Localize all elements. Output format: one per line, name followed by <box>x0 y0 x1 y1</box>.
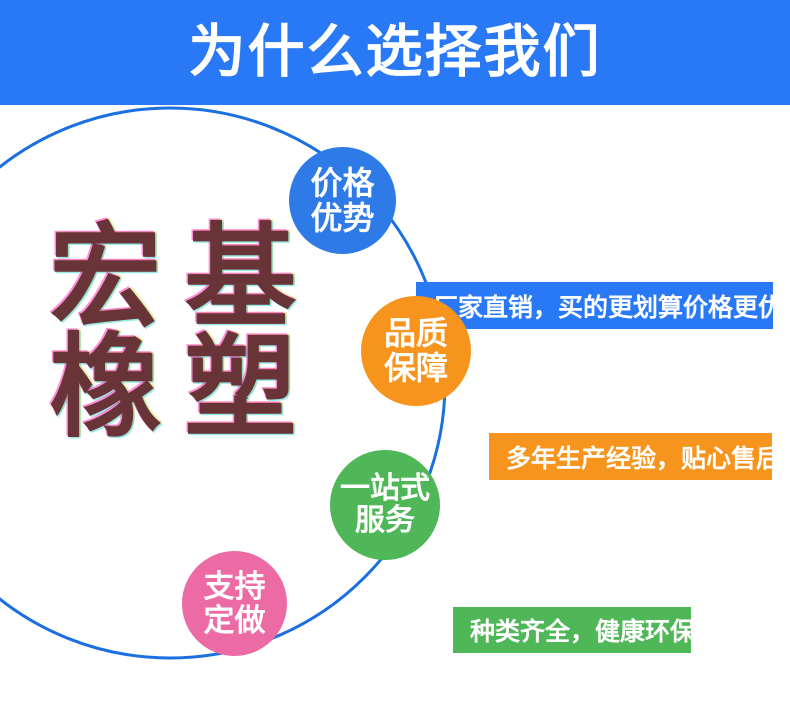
brand-char-3: 橡 <box>38 335 173 445</box>
badge-quality-assurance[interactable]: 品质 保障 <box>361 296 471 406</box>
brand-char-2: 基 <box>173 225 308 335</box>
badge-price-line-1: 价格 <box>310 166 374 201</box>
brand-char-1: 宏 <box>38 225 173 335</box>
promo-banner-page: 为什么选择我们 宏 基 橡 塑 价格 优势 品质 保障 一站式 服务 <box>0 0 790 709</box>
badge-custom-line-1: 支持 <box>204 570 266 603</box>
badge-price-line-2: 优势 <box>310 201 374 236</box>
caption-quality-assurance: 多年生产经验，贴心售后 <box>489 433 772 480</box>
brand-char-4: 塑 <box>173 335 308 445</box>
badge-supports-customization[interactable]: 支持 定做 <box>182 551 287 656</box>
page-title: 为什么选择我们 <box>189 24 602 81</box>
badge-quality-line-2: 保障 <box>384 351 448 386</box>
badge-quality-line-1: 品质 <box>384 316 448 351</box>
badge-service-line-1: 一站式 <box>340 473 430 505</box>
badge-custom-line-2: 定做 <box>204 604 266 637</box>
caption-price-advantage: 厂家直销，买的更划算价格更优惠 <box>416 282 773 329</box>
diagram-area: 宏 基 橡 塑 价格 优势 品质 保障 一站式 服务 支持 定做 厂家直销，买的… <box>0 105 790 709</box>
badge-price-advantage[interactable]: 价格 优势 <box>289 147 396 254</box>
header-banner: 为什么选择我们 <box>0 0 790 105</box>
brand-wordmark: 宏 基 橡 塑 <box>38 225 308 445</box>
caption-one-stop-service: 种类齐全，健康环保 <box>453 607 691 653</box>
badge-service-line-2: 服务 <box>355 505 415 537</box>
badge-one-stop-service[interactable]: 一站式 服务 <box>330 450 440 560</box>
